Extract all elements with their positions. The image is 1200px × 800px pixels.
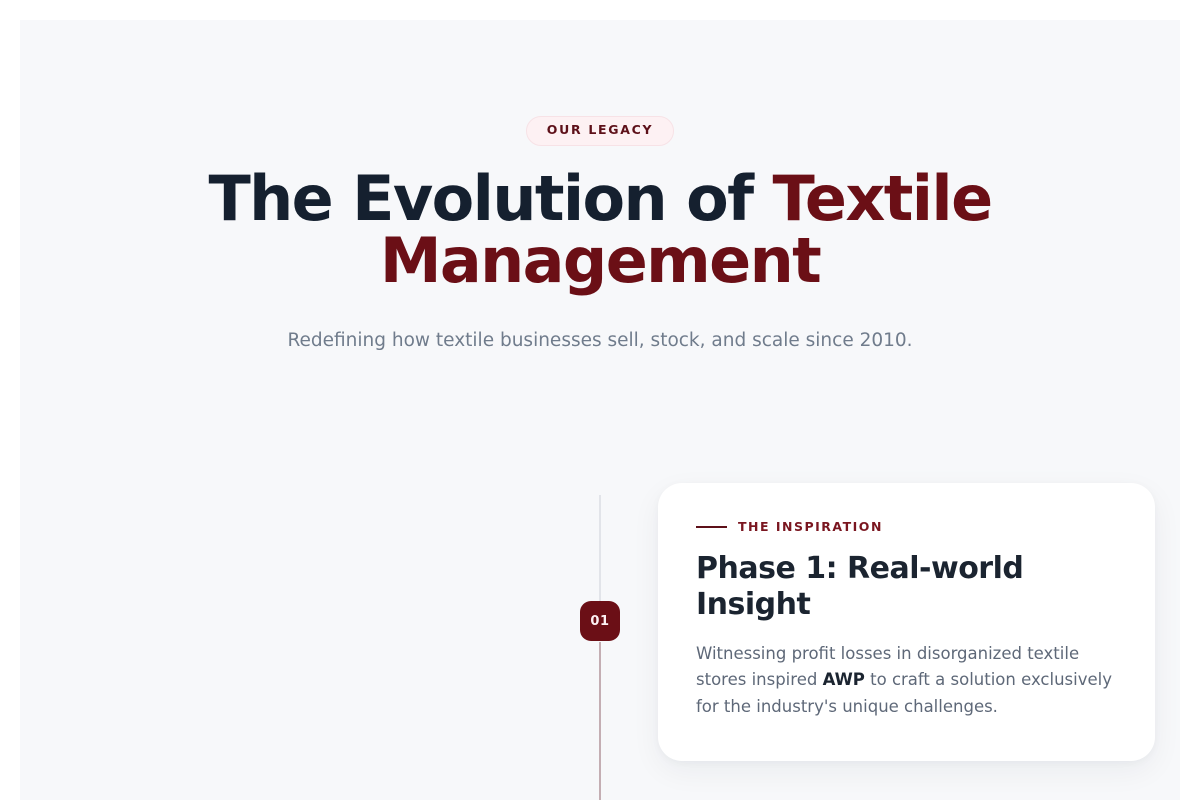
timeline-axis-upper bbox=[599, 495, 601, 601]
card-kicker: THE INSPIRATION bbox=[696, 521, 1115, 534]
card-title: Phase 1: Real-world Insight bbox=[696, 551, 1115, 623]
page-title: The Evolution of Textile Management bbox=[20, 168, 1180, 292]
eyebrow-badge: OUR LEGACY bbox=[526, 116, 674, 146]
hero-subtitle: Redefining how textile businesses sell, … bbox=[20, 327, 1180, 355]
timeline-node-01[interactable]: 01 bbox=[580, 601, 620, 641]
page-surface: OUR LEGACY The Evolution of Textile Mana… bbox=[20, 20, 1180, 800]
timeline-node-number: 01 bbox=[590, 614, 609, 629]
card-body: Witnessing profit losses in disorganized… bbox=[696, 641, 1115, 721]
card-body-highlight: AWP bbox=[823, 670, 865, 689]
card-kicker-label: THE INSPIRATION bbox=[738, 521, 883, 534]
timeline-section: 01 THE INSPIRATION Phase 1: Real-world I… bbox=[20, 475, 1180, 800]
phase-card-01[interactable]: THE INSPIRATION Phase 1: Real-world Insi… bbox=[658, 483, 1155, 761]
hero-section: OUR LEGACY The Evolution of Textile Mana… bbox=[20, 20, 1180, 354]
dash-icon bbox=[696, 526, 727, 528]
timeline-axis-lower bbox=[599, 642, 601, 800]
